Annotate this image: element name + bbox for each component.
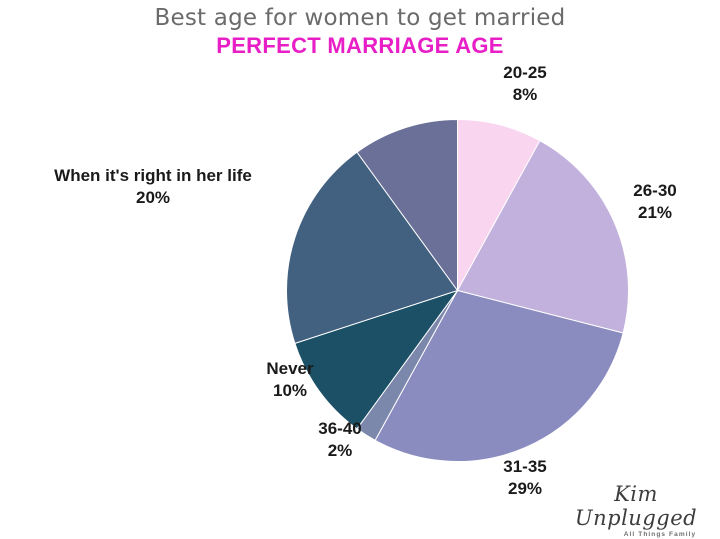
slice-label-20-25-pct: 8% — [430, 84, 620, 106]
slice-label-36-40-pct: 2% — [265, 440, 415, 462]
slice-label-31-35-name: 31-35 — [460, 456, 590, 478]
slice-label-right-in-her-life: When it's right in her life 20% — [8, 165, 298, 209]
title-block: Best age for women to get married PERFEC… — [0, 4, 720, 59]
pie-svg — [285, 118, 630, 463]
slice-label-36-40: 36-40 2% — [265, 418, 415, 462]
slice-label-20-25-name: 20-25 — [430, 62, 620, 84]
slice-label-never-name: Never — [215, 358, 365, 380]
slice-label-26-30: 26-30 21% — [600, 180, 710, 224]
watermark-tagline: All Things Family — [560, 531, 712, 538]
pie-chart-infographic: Best age for women to get married PERFEC… — [0, 0, 720, 539]
slice-label-26-30-name: 26-30 — [600, 180, 710, 202]
page-title: Best age for women to get married — [0, 4, 720, 32]
watermark-brand-name: Kim Unplugged — [560, 482, 712, 530]
slice-label-26-30-pct: 21% — [600, 202, 710, 224]
pie-chart — [285, 118, 630, 463]
page-subtitle: PERFECT MARRIAGE AGE — [0, 33, 720, 59]
slice-label-right-in-her-life-pct: 20% — [8, 187, 298, 209]
slice-label-never-pct: 10% — [215, 380, 365, 402]
watermark: Kim Unplugged All Things Family — [560, 482, 712, 538]
slice-label-20-25: 20-25 8% — [430, 62, 620, 106]
slice-label-right-in-her-life-name: When it's right in her life — [8, 165, 298, 187]
pie-slices — [287, 120, 629, 462]
slice-label-36-40-name: 36-40 — [265, 418, 415, 440]
slice-label-never: Never 10% — [215, 358, 365, 402]
